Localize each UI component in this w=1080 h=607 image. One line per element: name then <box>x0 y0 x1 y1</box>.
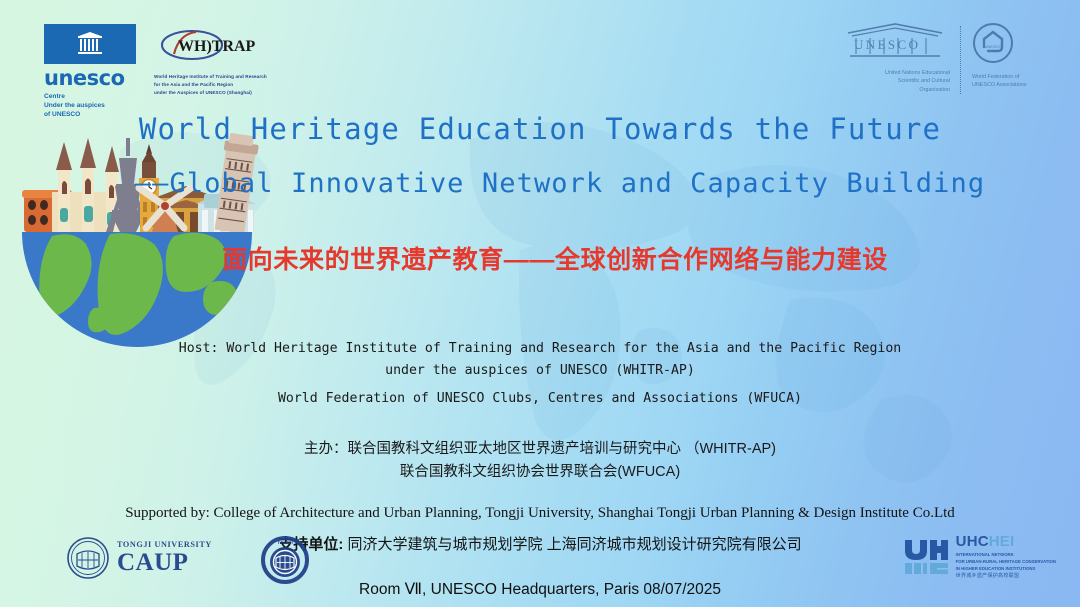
logo-divider <box>960 26 962 94</box>
wfuca-logo: UNESCO World Federation of UNESCO Associ… <box>972 22 1054 90</box>
unesco-temple-outline-icon: UNESCO <box>840 22 950 60</box>
title-english-line2: ——Global Innovative Network and Capacity… <box>0 168 1080 199</box>
whitrap-mark-icon: WH)TRAP <box>154 28 276 62</box>
title-english-line1: World Heritage Education Towards the Fut… <box>0 112 1080 146</box>
uhchei-title-light: HEI <box>989 533 1015 550</box>
host-chinese-line1: 主办：联合国教科文组织亚太地区世界遗产培训与研究中心 （WHITR-AP) <box>0 438 1080 461</box>
whitrap-logo: WH)TRAP World Heritage Institute of Trai… <box>154 24 294 97</box>
logo-group-topleft: unesco Centre Under the auspices of UNES… <box>44 24 294 119</box>
host-chinese-line2: 联合国教科文组织协会世界联合会(WFUCA) <box>0 461 1080 484</box>
uhchei-subtitle: INTERNATIONAL NETWORK FOR URBAN-RURAL HE… <box>956 552 1056 573</box>
poster-canvas: unesco Centre Under the auspices of UNES… <box>0 0 1080 607</box>
support-chinese-body: 同济大学建筑与城市规划学院 上海同济城市规划设计研究院有限公司 <box>343 536 801 553</box>
uhchei-wordmark: UHCHEI <box>956 534 1056 550</box>
svg-text:UNESCO: UNESCO <box>854 37 920 52</box>
logo-group-topright: UNESCO United Nations Educational Scient… <box>838 22 1054 94</box>
host-english-line3: World Federation of UNESCO Clubs, Centre… <box>0 391 1080 406</box>
uhchei-mark-icon <box>904 538 948 576</box>
whitrap-subtitle: World Heritage Institute of Training and… <box>154 73 294 97</box>
host-english: Host: World Heritage Institute of Traini… <box>0 338 1080 382</box>
caup-main-line: CAUP <box>117 550 212 575</box>
tjupdi-arc-text: TJUPDI <box>277 540 293 545</box>
host-english-line2: under the auspices of UNESCO (WHITR-AP) <box>0 360 1080 382</box>
caup-top-line: TONGJI UNIVERSITY <box>117 541 212 549</box>
uhchei-logo: UHCHEI INTERNATIONAL NETWORK FOR URBAN-R… <box>904 534 1056 579</box>
unesco-logo: unesco Centre Under the auspices of UNES… <box>44 24 136 119</box>
tjupdi-seal-icon: TJUPDI <box>261 536 309 584</box>
unesco-logo-topright: UNESCO United Nations Educational Scient… <box>838 22 950 94</box>
host-english-line1: Host: World Heritage Institute of Traini… <box>0 338 1080 360</box>
wfuca-subtitle: World Federation of UNESCO Associations <box>972 73 1054 90</box>
unesco-wordmark: unesco <box>44 68 136 89</box>
host-chinese: 主办：联合国教科文组织亚太地区世界遗产培训与研究中心 （WHITR-AP) 联合… <box>0 438 1080 485</box>
venue-line: Room Ⅶ, UNESCO Headquarters, Paris 08/07… <box>0 580 1080 599</box>
wfuca-circle-icon: UNESCO <box>972 22 1014 64</box>
svg-text:WH)TRAP: WH)TRAP <box>178 38 256 55</box>
support-english: Supported by: College of Architecture an… <box>0 505 1080 522</box>
tjupdi-logo: TJUPDI <box>261 536 309 589</box>
unesco-topright-subtitle: United Nations Educational Scientific an… <box>838 69 950 94</box>
wfuca-inner-label: UNESCO <box>984 44 1001 49</box>
tongji-caup-logo: TONGJI UNIVERSITY CAUP <box>66 536 212 580</box>
tongji-seal-icon <box>66 536 110 580</box>
uhchei-title-dark: UHC <box>956 533 989 550</box>
title-chinese: 面向未来的世界遗产教育——全球创新合作网络与能力建设 <box>0 240 1080 276</box>
uhchei-subtitle-chinese: 世界城乡遗产保护高校联盟 <box>956 574 1056 579</box>
unesco-temple-icon <box>44 24 136 64</box>
